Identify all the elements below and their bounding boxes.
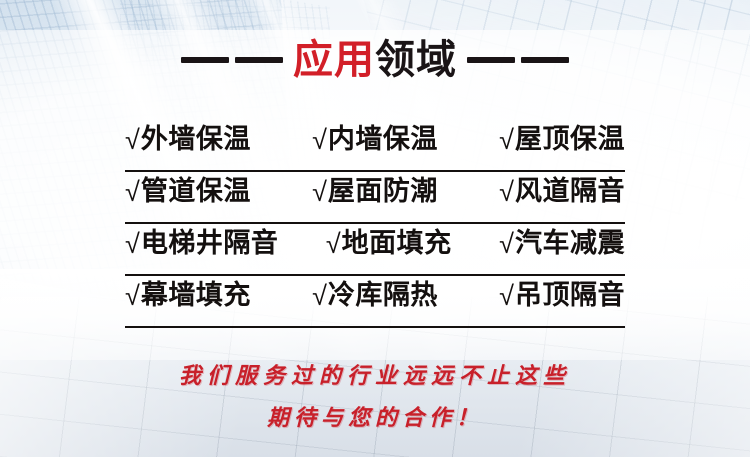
tagline-secondary: 期待与您的合作！ xyxy=(0,400,750,432)
list-item-label: 屋面防潮 xyxy=(328,178,438,205)
list-item-label: 管道保温 xyxy=(141,178,251,205)
list-item[interactable]: √ 汽车减震 xyxy=(499,230,625,257)
application-row: √ 外墙保温 √ 内墙保温 √ 屋顶保温 xyxy=(0,126,750,178)
poster-content: 应用领域 √ 外墙保温 √ 内墙保温 xyxy=(0,0,750,457)
list-item[interactable]: √ 内墙保温 xyxy=(312,126,438,153)
tagline-primary: 我们服务过的行业远远不止这些 xyxy=(0,358,750,390)
dash-icon xyxy=(235,57,283,63)
list-item[interactable]: √ 冷库隔热 xyxy=(312,282,438,309)
row-divider xyxy=(125,326,625,328)
page-title-rest: 领域 xyxy=(375,38,457,82)
list-item[interactable]: √ 屋面防潮 xyxy=(312,178,438,205)
checkmark-icon: √ xyxy=(312,179,327,206)
application-row: √ 幕墙填充 √ 冷库隔热 √ 吊顶隔音 xyxy=(0,282,750,334)
application-fields-list: √ 外墙保温 √ 内墙保温 √ 屋顶保温 xyxy=(0,126,750,334)
list-item[interactable]: √ 吊顶隔音 xyxy=(499,282,625,309)
list-item[interactable]: √ 幕墙填充 xyxy=(125,282,251,309)
list-item[interactable]: √ 屋顶保温 xyxy=(499,126,625,153)
checkmark-icon: √ xyxy=(499,231,514,258)
checkmark-icon: √ xyxy=(125,127,140,154)
checkmark-icon: √ xyxy=(312,127,327,154)
row-divider xyxy=(125,170,625,172)
checkmark-icon: √ xyxy=(125,231,140,258)
checkmark-icon: √ xyxy=(125,179,140,206)
list-item[interactable]: √ 外墙保温 xyxy=(125,126,251,153)
application-fields-poster: 应用领域 √ 外墙保温 √ 内墙保温 xyxy=(0,0,750,457)
dash-icon xyxy=(521,57,569,63)
list-item-label: 幕墙填充 xyxy=(141,282,251,309)
row-divider xyxy=(125,274,625,276)
dash-icon xyxy=(181,57,229,63)
application-row: √ 电梯井隔音 √ 地面填充 √ 汽车减震 xyxy=(0,230,750,282)
list-item-label: 内墙保温 xyxy=(328,126,438,153)
checkmark-icon: √ xyxy=(499,179,514,206)
checkmark-icon: √ xyxy=(499,283,514,310)
list-item-label: 冷库隔热 xyxy=(328,282,438,309)
title-dashes-left xyxy=(181,57,283,63)
checkmark-icon: √ xyxy=(312,283,327,310)
list-item[interactable]: √ 风道隔音 xyxy=(499,178,625,205)
list-item-label: 汽车减震 xyxy=(515,230,625,257)
application-row: √ 管道保温 √ 屋面防潮 √ 风道隔音 xyxy=(0,178,750,230)
list-item[interactable]: √ 管道保温 xyxy=(125,178,251,205)
page-title: 应用领域 xyxy=(293,40,457,80)
dash-icon xyxy=(467,57,515,63)
list-item-label: 电梯井隔音 xyxy=(141,230,279,257)
row-divider xyxy=(125,222,625,224)
list-item[interactable]: √ 地面填充 xyxy=(326,230,452,257)
list-item-label: 外墙保温 xyxy=(141,126,251,153)
list-item-label: 风道隔音 xyxy=(515,178,625,205)
page-title-highlight: 应用 xyxy=(293,38,375,82)
list-item[interactable]: √ 电梯井隔音 xyxy=(125,230,278,257)
list-item-label: 屋顶保温 xyxy=(515,126,625,153)
page-title-row: 应用领域 xyxy=(0,40,750,80)
title-dashes-right xyxy=(467,57,569,63)
checkmark-icon: √ xyxy=(326,231,341,258)
checkmark-icon: √ xyxy=(499,127,514,154)
list-item-label: 吊顶隔音 xyxy=(515,282,625,309)
checkmark-icon: √ xyxy=(125,283,140,310)
list-item-label: 地面填充 xyxy=(342,230,452,257)
